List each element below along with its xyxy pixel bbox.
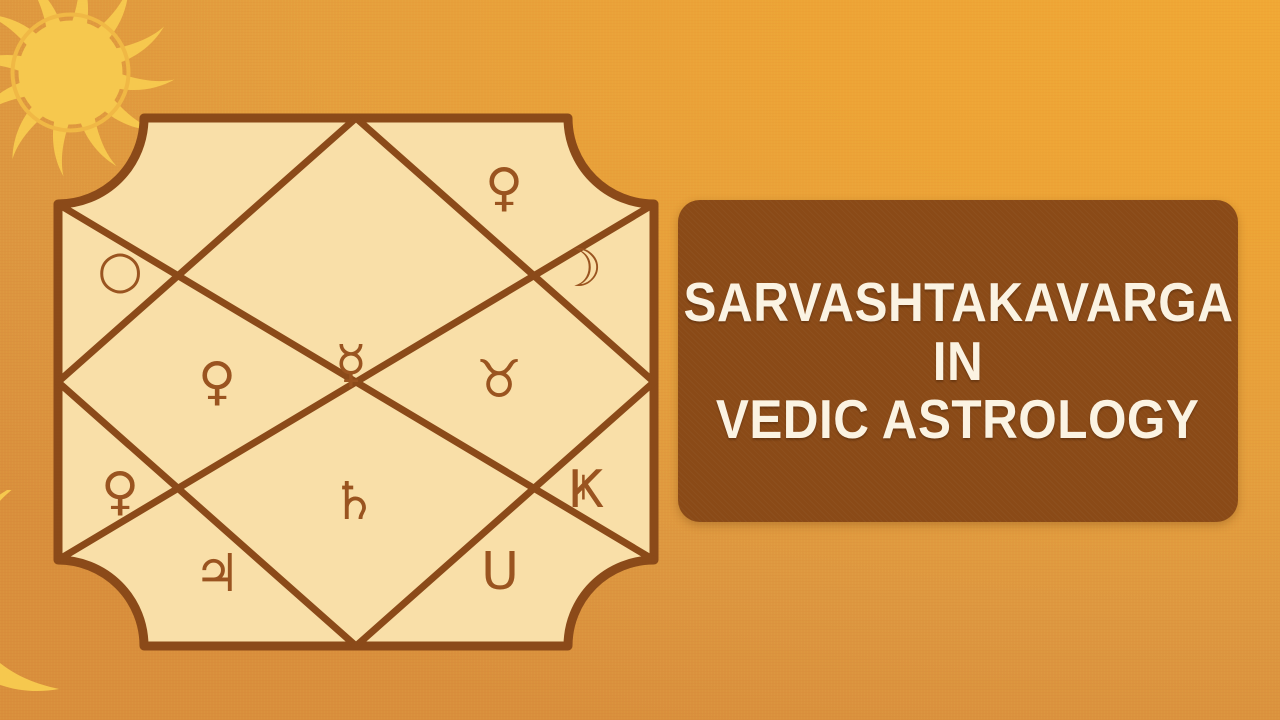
venus-symbol-left-center: ♀ bbox=[198, 352, 236, 412]
saturn-symbol: ♄ bbox=[331, 472, 378, 532]
title-line-primary: SARVASHTAKAVARGA bbox=[683, 276, 1233, 329]
title-line-connector: IN bbox=[933, 335, 983, 388]
title-line-secondary: VEDIC ASTROLOGY bbox=[716, 393, 1199, 446]
vedic-birth-chart: ○ ☿ ♀ ☽ ♀ ♉ ♀ ♄ Ҝ ♃ U bbox=[52, 112, 660, 652]
venus-symbol-top-right: ♀ bbox=[485, 158, 523, 218]
taurus-symbol: ♉ bbox=[476, 350, 523, 410]
venus-symbol-left-lower: ♀ bbox=[101, 462, 139, 522]
rahu-symbol: U bbox=[481, 542, 519, 602]
sun-symbol: ○ bbox=[97, 240, 142, 300]
jupiter-symbol: ♃ bbox=[194, 544, 241, 604]
title-panel: SARVASHTAKAVARGA IN VEDIC ASTROLOGY bbox=[678, 200, 1238, 522]
ketu-symbol: Ҝ bbox=[568, 460, 605, 520]
mercury-symbol: ☿ bbox=[335, 335, 367, 395]
moon-symbol: ☽ bbox=[556, 239, 603, 299]
